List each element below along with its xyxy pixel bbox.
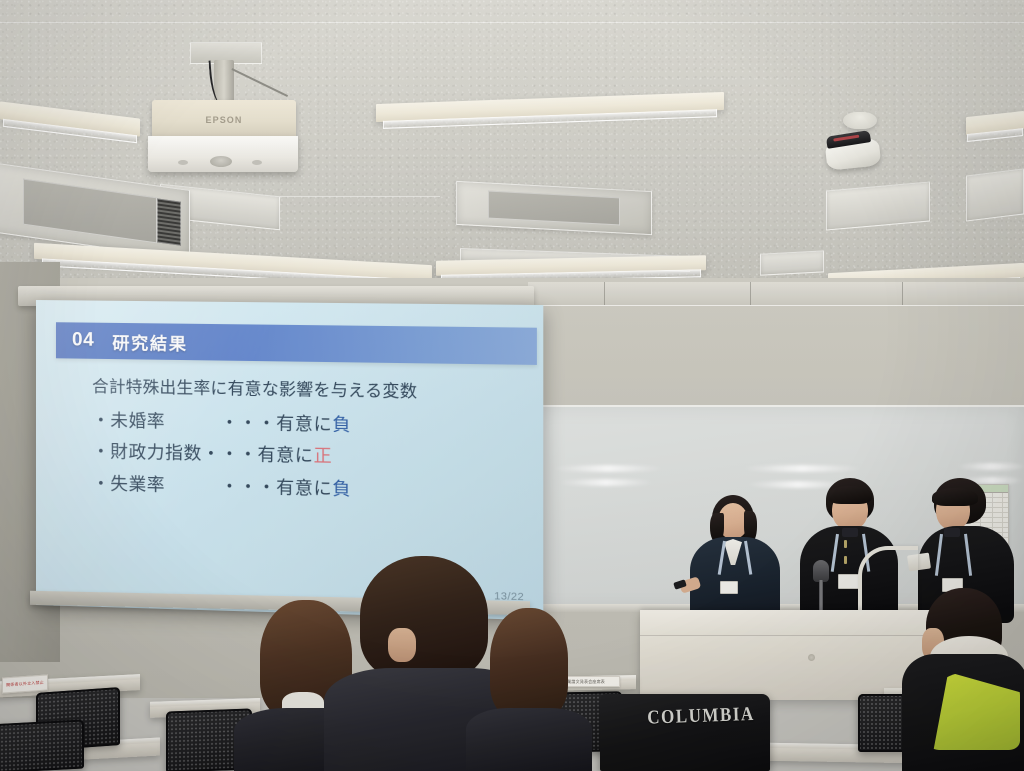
slide-bullet-3: ・失業率 ・・・有意に負	[92, 475, 522, 502]
hair-fringe	[828, 486, 872, 504]
bullet-label: ・失業率	[92, 473, 165, 495]
projector-brand-label: EPSON	[205, 115, 242, 125]
slide-title: 研究結果	[112, 328, 187, 354]
slide-bullet-1: ・未婚率 ・・・有意に負	[92, 411, 522, 437]
name-badge	[838, 574, 860, 589]
presenter-left	[690, 495, 780, 620]
smoke-detector-icon	[843, 112, 877, 129]
hair-short	[360, 556, 488, 680]
bullet-spacer	[165, 474, 220, 495]
ceiling-vent	[760, 250, 824, 275]
projector-cable	[208, 59, 227, 104]
bullet-connector: ・・・有意に	[220, 412, 332, 434]
classroom-photo: EPSON	[0, 0, 1024, 771]
bullet-connector: ・・・有意に	[202, 443, 314, 466]
bullet-connector: ・・・有意に	[220, 475, 332, 498]
slide-bullet-2: ・財政力指数・・・有意に正	[92, 443, 522, 469]
bullet-spacer	[165, 411, 220, 432]
ac-grille	[23, 178, 158, 243]
ear-neck	[388, 628, 416, 662]
ac-vent	[157, 199, 181, 246]
ac-grille	[488, 190, 620, 225]
bullet-result: 負	[332, 478, 351, 499]
draped-jacket: COLUMBIA	[600, 694, 770, 771]
ceiling-vent	[966, 168, 1024, 221]
bullet-label: ・未婚率	[92, 409, 165, 430]
slide-header: 04 研究結果	[56, 322, 537, 365]
placard-text: 関係者以外立入禁止	[6, 680, 44, 689]
projector-lens-plate	[148, 136, 298, 172]
bullet-label: ・財政力指数	[92, 441, 202, 463]
slide-section-number: 04	[72, 329, 94, 351]
wall-upper-band	[528, 282, 1024, 306]
hair-fringe	[932, 488, 978, 506]
gakuran-button	[844, 556, 847, 564]
projector-support-rod	[232, 68, 288, 102]
projector-foot	[178, 160, 188, 165]
audience-member-4	[908, 588, 1024, 771]
audience-member-3	[470, 608, 580, 771]
gakuran-button	[844, 540, 847, 548]
slide-body: 合計特殊出生率に有意な影響を与える変数 ・未婚率 ・・・有意に負 ・財政力指数・…	[92, 379, 522, 517]
bullet-result: 正	[314, 445, 333, 466]
ceiling-seam	[0, 22, 1024, 23]
torso	[466, 708, 592, 771]
projector-body: EPSON	[152, 100, 296, 140]
projector-foot	[252, 160, 262, 165]
desk-placard-left: 関係者以外立入禁止	[2, 674, 48, 693]
gooseneck-microphone	[816, 560, 826, 616]
hair-long	[490, 608, 568, 718]
name-badge	[720, 581, 738, 594]
ceiling-mounted-projector: EPSON	[148, 42, 300, 172]
bullet-result: 負	[332, 414, 351, 435]
projector-lens	[210, 156, 232, 167]
gakuran-collar	[944, 528, 960, 537]
microphone-head	[813, 560, 829, 582]
lectern-screw	[808, 654, 815, 661]
classroom-chair[interactable]	[0, 719, 84, 771]
jacket-brand-text: COLUMBIA	[640, 702, 763, 729]
slide-lead-line: 合計特殊出生率に有意な影響を与える変数	[92, 379, 522, 403]
gakuran-collar	[842, 528, 858, 537]
